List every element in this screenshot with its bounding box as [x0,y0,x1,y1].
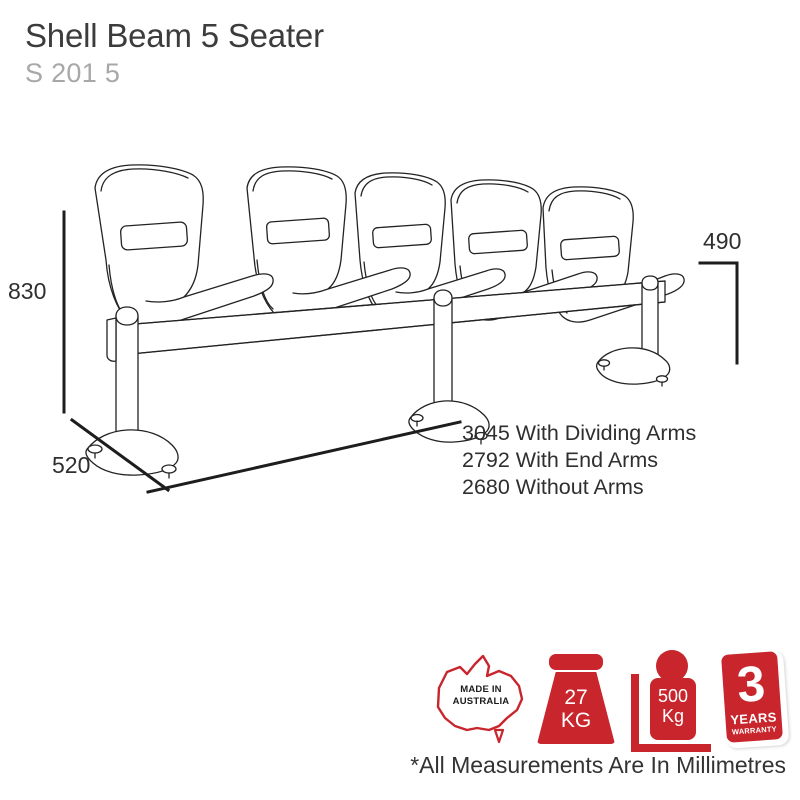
weight-value: 27 [537,686,615,709]
dimension-label-depth: 520 [52,452,90,479]
capacity-unit: Kg [650,706,696,726]
page-title: Shell Beam 5 Seater [25,16,725,56]
australia-line: AUSTRALIA [441,696,521,708]
dimension-line-seat-height [700,263,737,363]
measurements-footnote: *All Measurements Are In Millimetres [0,752,786,779]
product-code: S 201 5 [25,56,725,90]
dimension-line-width [148,422,460,492]
capacity-value: 500 [650,686,696,706]
width-option-no-arms: 2680 Without Arms [462,474,792,501]
badge-warranty: 3 YEARS WARRANTY [717,648,795,748]
badge-load-capacity: 500 Kg [628,648,714,748]
badge-product-weight: 27 KG [535,648,617,748]
width-option-dividing-arms: 3045 With Dividing Arms [462,420,792,447]
made-in-australia-text: MADE IN AUSTRALIA [441,684,521,708]
width-dimension-callouts: 3045 With Dividing Arms 2792 With End Ar… [462,420,792,501]
seat-shell-1 [95,165,273,329]
warranty-number: 3 [721,655,781,713]
made-in-line: MADE IN [441,684,521,696]
weight-handle-shape [549,654,603,670]
weight-unit: KG [537,709,615,732]
weight-text: 27 KG [537,686,615,732]
dimension-label-height: 830 [8,278,46,305]
warranty-tag-icon: 3 YEARS WARRANTY [718,648,786,746]
feature-badge-row: MADE IN AUSTRALIA 27 KG 500 Kg [425,648,795,748]
page-header: Shell Beam 5 Seater S 201 5 [25,16,725,90]
width-option-end-arms: 2792 With End Arms [462,447,792,474]
dimension-label-seat-height: 490 [703,228,741,255]
capacity-text: 500 Kg [650,686,696,726]
badge-made-in-australia: MADE IN AUSTRALIA [425,648,533,748]
product-spec-sheet: Shell Beam 5 Seater S 201 5 [0,0,800,800]
